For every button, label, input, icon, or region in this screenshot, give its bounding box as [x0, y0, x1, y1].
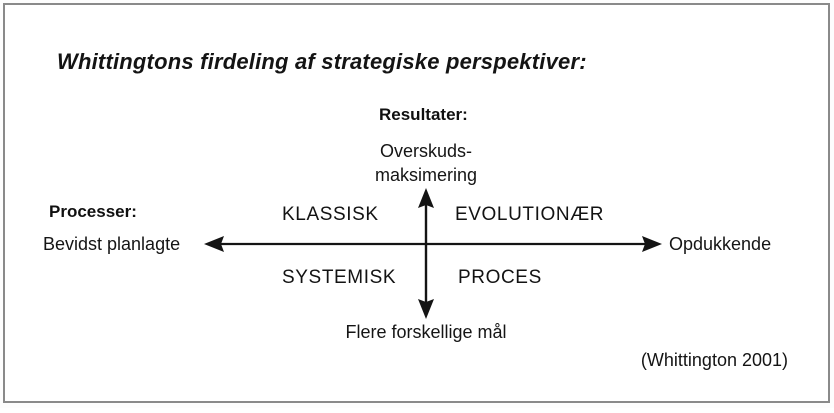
quadrant-label-processual: PROCES	[458, 267, 542, 289]
left-arrowhead	[204, 236, 224, 252]
quadrant-label-evolutionary: EVOLUTIONÆR	[455, 204, 604, 226]
emergent-axis-pole-label: Opdukkende	[669, 234, 771, 255]
scanned-figure-page: Whittingtons firdeling af strategiske pe…	[0, 0, 834, 408]
right-arrowhead	[642, 236, 662, 252]
processes-axis-heading: Processer:	[49, 202, 137, 222]
results-axis-heading: Resultater:	[379, 105, 468, 125]
results-axis-pole-label: Overskuds- maksimering	[375, 139, 477, 187]
quadrant-label-systemic: SYSTEMISK	[282, 267, 396, 289]
up-arrowhead	[418, 188, 434, 208]
figure-title: Whittingtons firdeling af strategiske pe…	[57, 49, 587, 75]
deliberate-axis-pole-label: Bevidst planlagte	[43, 234, 180, 255]
plural-goals-axis-pole-label: Flere forskellige mål	[345, 322, 506, 343]
results-pole-line-2: maksimering	[375, 163, 477, 187]
results-pole-line-1: Overskuds-	[375, 139, 477, 163]
source-citation: (Whittington 2001)	[641, 350, 788, 371]
down-arrowhead	[418, 299, 434, 319]
figure-frame: Whittingtons firdeling af strategiske pe…	[3, 3, 830, 403]
quadrant-label-classic: KLASSISK	[282, 204, 379, 226]
